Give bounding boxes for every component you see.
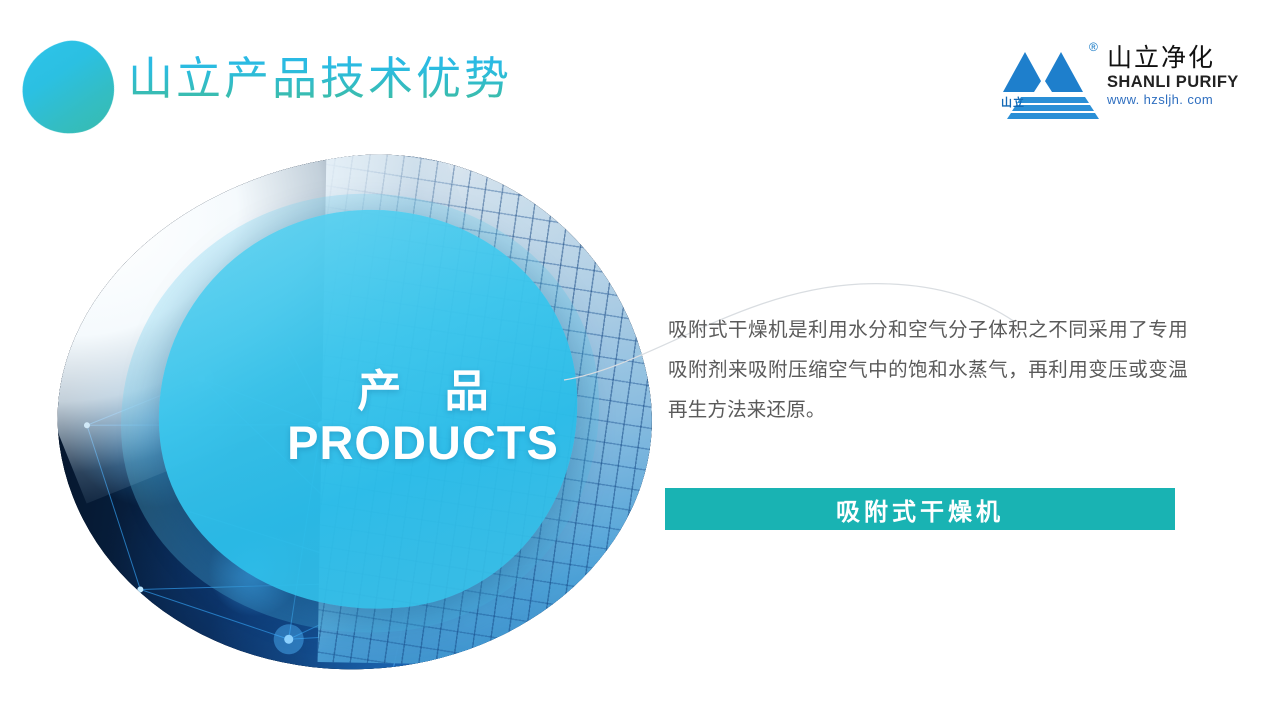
slide-header: 山立产品技术优势 ® 山立 山立净化 SHANLI PURIFY www. hz… xyxy=(0,0,1280,150)
product-name-banner-label: 吸附式干燥机 xyxy=(836,492,1004,527)
product-description: 吸附式干燥机是利用水分和空气分子体积之不同采用了专用吸附剂来吸附压缩空气中的饱和… xyxy=(668,310,1188,430)
page-title: 山立产品技术优势 xyxy=(128,56,512,101)
registered-trademark-icon: ® xyxy=(1089,40,1098,54)
products-artwork: 产 品 PRODUCTS xyxy=(48,150,668,680)
logo-text-block: 山立净化 SHANLI PURIFY www. hzsljh. com xyxy=(1107,44,1227,107)
logo-company-name-cn: 山立净化 xyxy=(1107,44,1227,72)
logo-company-name-en: SHANLI PURIFY xyxy=(1107,73,1227,92)
header-decorative-blob-icon xyxy=(12,32,124,144)
slide-root: 山立产品技术优势 ® 山立 山立净化 SHANLI PURIFY www. hz… xyxy=(0,0,1280,720)
company-logo: ® 山立 山立净化 SHANLI PURIFY www. hzsljh. com xyxy=(1001,40,1226,126)
logo-website-url: www. hzsljh. com xyxy=(1107,92,1227,107)
product-name-banner: 吸附式干燥机 xyxy=(665,488,1175,530)
logo-mark-caption: 山立 xyxy=(1001,94,1025,110)
